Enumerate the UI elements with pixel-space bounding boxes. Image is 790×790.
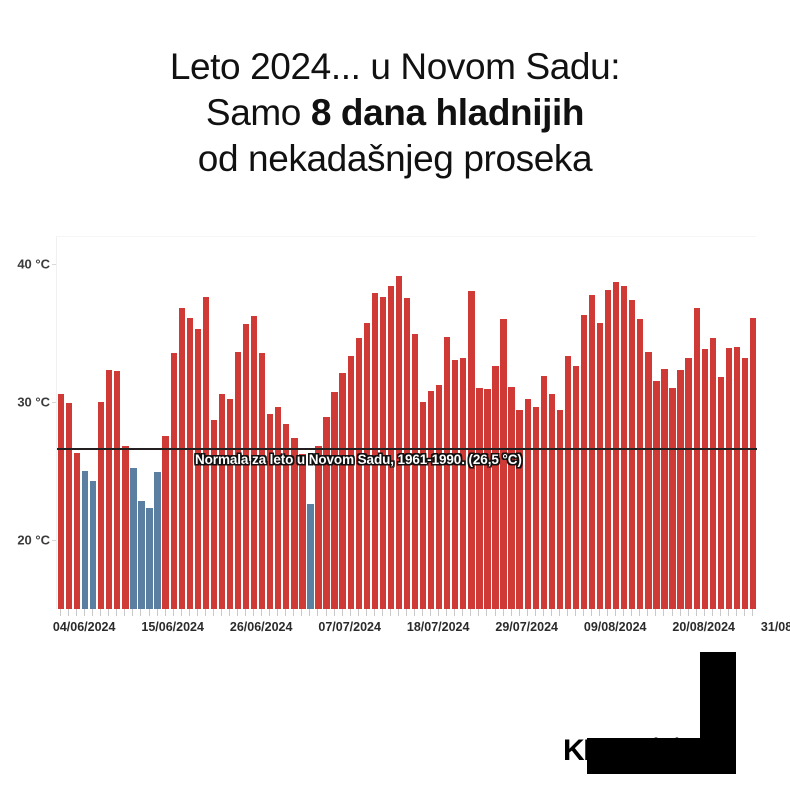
bar	[307, 504, 313, 609]
x-tick-mark	[366, 609, 367, 616]
bar	[525, 399, 531, 609]
bar	[58, 394, 64, 610]
x-tick-mark	[165, 609, 166, 616]
headline-line-1: Leto 2024... u Novom Sadu:	[0, 44, 790, 90]
bar	[557, 410, 563, 609]
bar	[436, 385, 442, 609]
x-tick-mark	[599, 609, 600, 616]
x-tick-mark	[607, 609, 608, 616]
bar	[484, 389, 490, 609]
plot-area: Normala za leto u Novom Sadu, 1961-1990.…	[56, 236, 756, 609]
bar	[420, 402, 426, 609]
x-tick-mark	[189, 609, 190, 616]
bar	[227, 399, 233, 609]
normal-reference-label: Normala za leto u Novom Sadu, 1961-1990.…	[195, 452, 522, 467]
headline-block: Leto 2024... u Novom Sadu: Samo 8 dana h…	[0, 44, 790, 182]
bar	[653, 381, 659, 609]
x-tick-mark	[382, 609, 383, 616]
bar	[718, 377, 724, 609]
x-tick-label: 15/06/2024	[141, 620, 204, 634]
bar	[74, 453, 80, 609]
bar	[267, 414, 273, 609]
x-tick-mark	[60, 609, 61, 616]
bar	[492, 366, 498, 609]
x-tick-mark	[213, 609, 214, 616]
x-tick-mark	[454, 609, 455, 616]
x-tick-mark	[712, 609, 713, 616]
bar	[581, 315, 587, 609]
x-tick-mark	[334, 609, 335, 616]
temperature-bar-chart: 20 °C30 °C40 °C Normala za leto u Novom …	[0, 232, 790, 652]
bar	[597, 323, 603, 609]
bar	[162, 436, 168, 609]
x-tick-mark	[462, 609, 463, 616]
x-tick-mark	[414, 609, 415, 616]
x-tick-mark	[157, 609, 158, 616]
bar	[275, 407, 281, 609]
x-tick-mark	[293, 609, 294, 616]
x-tick-mark	[647, 609, 648, 616]
x-tick-mark	[704, 609, 705, 616]
x-tick-mark	[116, 609, 117, 616]
x-tick-mark	[342, 609, 343, 616]
bar	[661, 369, 667, 609]
bar	[114, 371, 120, 609]
x-tick-mark	[446, 609, 447, 616]
y-axis: 20 °C30 °C40 °C	[0, 232, 56, 612]
x-tick-mark	[398, 609, 399, 616]
x-tick-mark	[84, 609, 85, 616]
bar	[331, 392, 337, 609]
bar	[589, 295, 595, 609]
x-tick-mark	[132, 609, 133, 616]
bar	[726, 348, 732, 609]
x-tick-label: 18/07/2024	[407, 620, 470, 634]
x-tick-mark	[495, 609, 496, 616]
x-tick-mark	[100, 609, 101, 616]
bar-series	[57, 236, 757, 609]
x-tick-mark	[358, 609, 359, 616]
bar	[372, 293, 378, 609]
x-tick-mark	[696, 609, 697, 616]
bar	[444, 337, 450, 609]
x-tick-mark	[285, 609, 286, 616]
x-tick-mark	[736, 609, 737, 616]
x-tick-mark	[205, 609, 206, 616]
x-tick-mark	[559, 609, 560, 616]
headline-line-3: od nekadašnjeg proseka	[0, 136, 790, 182]
wordmark-suffix-post: 1	[672, 734, 681, 753]
x-tick-mark	[149, 609, 150, 616]
x-tick-mark	[672, 609, 673, 616]
x-tick-mark	[728, 609, 729, 616]
x-tick-mark	[261, 609, 262, 616]
x-tick-mark	[390, 609, 391, 616]
x-tick-mark	[623, 609, 624, 616]
y-tick-label: 30 °C	[17, 394, 50, 409]
x-tick-mark	[655, 609, 656, 616]
x-tick-mark	[575, 609, 576, 616]
x-tick-mark	[301, 609, 302, 616]
x-tick-mark	[503, 609, 504, 616]
bar	[356, 338, 362, 609]
wordmark-suffix-pre: 1	[651, 734, 660, 753]
x-tick-mark	[478, 609, 479, 616]
x-tick-label: 07/07/2024	[318, 620, 381, 634]
bar	[82, 471, 88, 609]
bar	[66, 403, 72, 609]
x-tick-mark	[470, 609, 471, 616]
x-tick-mark	[350, 609, 351, 616]
x-tick-label: 04/06/2024	[53, 620, 116, 634]
bar	[645, 352, 651, 609]
x-tick-mark	[197, 609, 198, 616]
bar	[452, 360, 458, 609]
bar	[171, 353, 177, 609]
bar	[106, 370, 112, 609]
x-tick-mark	[535, 609, 536, 616]
x-tick-mark	[76, 609, 77, 616]
x-axis: 04/06/202415/06/202426/06/202407/07/2024…	[56, 609, 756, 653]
bar	[299, 454, 305, 609]
bar	[146, 508, 152, 609]
x-tick-mark	[406, 609, 407, 616]
x-tick-mark	[124, 609, 125, 616]
x-tick-mark	[583, 609, 584, 616]
x-tick-mark	[639, 609, 640, 616]
x-tick-mark	[615, 609, 616, 616]
headline-line-2: Samo 8 dana hladnijih	[0, 90, 790, 136]
x-tick-mark	[68, 609, 69, 616]
x-tick-mark	[551, 609, 552, 616]
x-tick-mark	[543, 609, 544, 616]
x-tick-mark	[663, 609, 664, 616]
x-tick-label: 26/06/2024	[230, 620, 293, 634]
x-tick-mark	[430, 609, 431, 616]
bar	[573, 366, 579, 609]
x-tick-mark	[511, 609, 512, 616]
brand-logo: KLIMA11	[0, 648, 790, 790]
headline-line-2-emphasis: 8 dana hladnijih	[311, 92, 584, 133]
bar	[685, 358, 691, 609]
bar	[637, 319, 643, 609]
bar	[396, 276, 402, 609]
bar	[98, 402, 104, 609]
x-tick-mark	[108, 609, 109, 616]
bar	[315, 446, 321, 609]
x-tick-label: 29/07/2024	[495, 620, 558, 634]
bar	[195, 329, 201, 609]
x-tick-mark	[181, 609, 182, 616]
bar	[219, 394, 225, 610]
bar	[710, 338, 716, 609]
bar	[154, 472, 160, 609]
bar	[460, 358, 466, 609]
x-tick-mark	[591, 609, 592, 616]
globe-icon	[660, 738, 671, 749]
bar	[629, 300, 635, 609]
bar	[323, 417, 329, 609]
bar	[130, 468, 136, 609]
bar	[476, 388, 482, 609]
bar	[702, 349, 708, 609]
x-tick-mark	[245, 609, 246, 616]
bar	[694, 308, 700, 609]
x-tick-mark	[317, 609, 318, 616]
bar	[412, 334, 418, 609]
x-tick-mark	[720, 609, 721, 616]
x-tick-mark	[688, 609, 689, 616]
y-tick-label: 40 °C	[17, 256, 50, 271]
bar	[339, 373, 345, 609]
bar	[549, 394, 555, 610]
x-tick-mark	[527, 609, 528, 616]
bar	[235, 352, 241, 609]
bar	[677, 370, 683, 609]
x-tick-mark	[374, 609, 375, 616]
bar	[533, 407, 539, 609]
x-tick-mark	[631, 609, 632, 616]
x-tick-mark	[221, 609, 222, 616]
bar	[508, 387, 514, 609]
x-tick-mark	[269, 609, 270, 616]
x-tick-label: 20/08/2024	[672, 620, 735, 634]
x-tick-mark	[229, 609, 230, 616]
x-tick-mark	[752, 609, 753, 616]
x-tick-mark	[253, 609, 254, 616]
bar	[750, 318, 756, 609]
y-tick-label: 20 °C	[17, 532, 50, 547]
x-tick-mark	[744, 609, 745, 616]
x-tick-mark	[567, 609, 568, 616]
x-tick-label: 31/08/2024	[761, 620, 790, 634]
x-tick-label: 09/08/2024	[584, 620, 647, 634]
bar	[742, 358, 748, 609]
wordmark-text: KLIMA	[563, 734, 651, 767]
x-tick-mark	[140, 609, 141, 616]
x-tick-mark	[92, 609, 93, 616]
x-tick-mark	[309, 609, 310, 616]
bar	[541, 376, 547, 609]
x-tick-mark	[326, 609, 327, 616]
x-tick-mark	[237, 609, 238, 616]
x-tick-mark	[680, 609, 681, 616]
bar	[122, 446, 128, 609]
bar	[516, 410, 522, 609]
bar	[179, 308, 185, 609]
x-tick-mark	[519, 609, 520, 616]
bar	[138, 501, 144, 609]
x-tick-mark	[277, 609, 278, 616]
bar	[428, 391, 434, 609]
bar	[669, 388, 675, 609]
bar	[259, 353, 265, 609]
bar	[90, 481, 96, 609]
bar	[734, 347, 740, 609]
x-tick-mark	[422, 609, 423, 616]
x-tick-mark	[173, 609, 174, 616]
bar	[348, 356, 354, 609]
x-tick-mark	[438, 609, 439, 616]
klima101-wordmark: KLIMA11	[563, 734, 681, 768]
headline-line-2-prefix: Samo	[206, 92, 311, 133]
bar	[613, 282, 619, 609]
normal-reference-line	[57, 448, 757, 450]
bar	[565, 356, 571, 609]
x-tick-mark	[486, 609, 487, 616]
bar	[187, 318, 193, 609]
